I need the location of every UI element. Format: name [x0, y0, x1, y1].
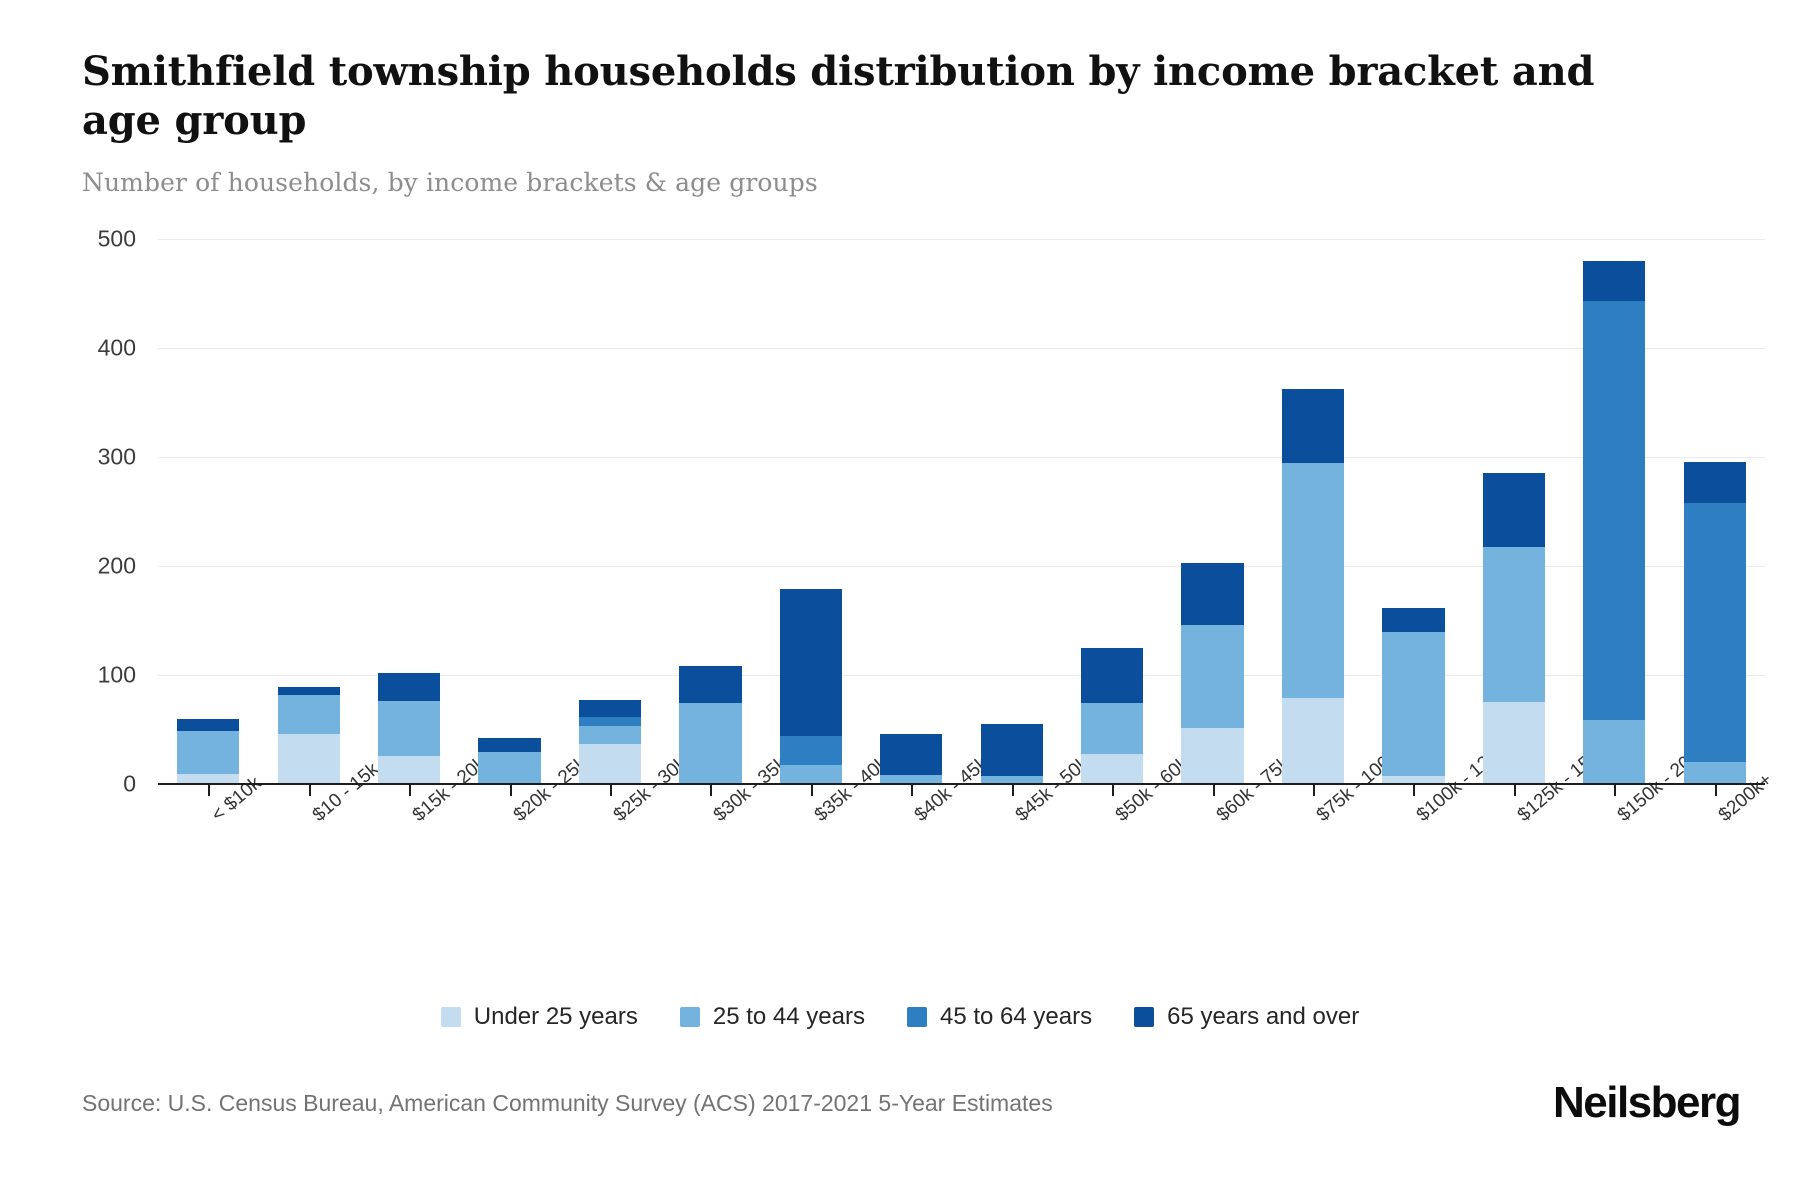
- bar-segment[interactable]: [478, 752, 540, 785]
- stacked-bar[interactable]: [981, 724, 1043, 785]
- bar-slot: $25k - 30k: [560, 240, 660, 785]
- stacked-bar[interactable]: [1081, 648, 1143, 785]
- legend-item-3[interactable]: 65 years and over: [1134, 1003, 1359, 1031]
- x-axis-tick: [1715, 785, 1717, 796]
- y-axis-tick-label: 400: [98, 335, 136, 362]
- bar-slot: < $10k: [158, 240, 258, 785]
- bar-segment[interactable]: [1081, 703, 1143, 754]
- legend-item-2[interactable]: 45 to 64 years: [907, 1003, 1092, 1031]
- neilsberg-logo: Neilsberg: [1553, 1078, 1740, 1128]
- x-axis-tick: [208, 785, 210, 796]
- bar-slot: $10 - 15k: [258, 240, 358, 785]
- bar-segment[interactable]: [1282, 463, 1344, 697]
- x-axis-tick: [1413, 785, 1415, 796]
- x-axis-tick: [510, 785, 512, 796]
- x-axis-tick: [1012, 785, 1014, 796]
- chart-subtitle: Number of households, by income brackets…: [82, 168, 1702, 197]
- bar-slot: $75k - 100k: [1263, 240, 1363, 785]
- bar-segment[interactable]: [981, 724, 1043, 776]
- bar-segment[interactable]: [1282, 389, 1344, 463]
- chart-page: Smithfield township households distribut…: [0, 0, 1800, 1200]
- bar-segment[interactable]: [1583, 261, 1645, 301]
- bar-segment[interactable]: [378, 756, 440, 785]
- stacked-bar[interactable]: [1583, 261, 1645, 785]
- bar-segment[interactable]: [579, 717, 641, 726]
- chart-footer: Source: U.S. Census Bureau, American Com…: [82, 1078, 1740, 1128]
- legend-label: 65 years and over: [1167, 1003, 1359, 1031]
- legend-label: Under 25 years: [474, 1003, 638, 1031]
- x-axis-line: [158, 783, 1765, 785]
- bar-slot: $45k - 50k: [962, 240, 1062, 785]
- chart-legend: Under 25 years25 to 44 years45 to 64 yea…: [0, 1003, 1800, 1031]
- bar-segment[interactable]: [579, 700, 641, 717]
- chart-header: Smithfield township households distribut…: [82, 48, 1702, 197]
- bar-segment[interactable]: [1483, 702, 1545, 785]
- bar-segment[interactable]: [1583, 301, 1645, 720]
- bar-slot: $200k+: [1665, 240, 1765, 785]
- legend-label: 25 to 44 years: [713, 1003, 865, 1031]
- stacked-bar[interactable]: [1181, 563, 1243, 785]
- bar-slot: $50k - 60k: [1062, 240, 1162, 785]
- stacked-bar[interactable]: [880, 734, 942, 785]
- bar-segment[interactable]: [1081, 754, 1143, 785]
- y-axis-tick-label: 300: [98, 444, 136, 471]
- stacked-bar[interactable]: [1684, 462, 1746, 785]
- bar-slot: $30k - 35k: [660, 240, 760, 785]
- x-axis-tick: [1514, 785, 1516, 796]
- bar-segment[interactable]: [780, 589, 842, 736]
- stacked-bar[interactable]: [478, 738, 540, 785]
- bar-slot: $15k - 20k: [359, 240, 459, 785]
- bar-slot: $35k - 40k: [761, 240, 861, 785]
- bar-segment[interactable]: [880, 734, 942, 775]
- x-axis-tick: [1112, 785, 1114, 796]
- x-axis-tick: [710, 785, 712, 796]
- stacked-bar[interactable]: [679, 666, 741, 785]
- stacked-bar[interactable]: [579, 700, 641, 785]
- bar-segment[interactable]: [177, 731, 239, 775]
- stacked-bar[interactable]: [1483, 473, 1545, 785]
- bar-segment[interactable]: [1684, 462, 1746, 502]
- legend-swatch-icon: [1134, 1007, 1154, 1027]
- bar-segment[interactable]: [278, 687, 340, 695]
- bar-segment[interactable]: [1181, 625, 1243, 729]
- y-axis-tick-label: 100: [98, 662, 136, 689]
- bar-slot: $125k - 150k: [1464, 240, 1564, 785]
- bar-segment[interactable]: [1583, 720, 1645, 785]
- bar-segment[interactable]: [378, 673, 440, 701]
- bar-segment[interactable]: [278, 695, 340, 734]
- bar-slot: $60k - 75k: [1162, 240, 1262, 785]
- y-axis-tick-label: 200: [98, 553, 136, 580]
- stacked-bar[interactable]: [1382, 608, 1444, 785]
- legend-swatch-icon: [907, 1007, 927, 1027]
- bar-slot: $100k - 125k: [1363, 240, 1463, 785]
- y-axis-tick-label: 0: [123, 771, 136, 798]
- stacked-bar[interactable]: [378, 673, 440, 785]
- legend-label: 45 to 64 years: [940, 1003, 1092, 1031]
- bar-segment[interactable]: [679, 666, 741, 703]
- stacked-bar[interactable]: [278, 687, 340, 785]
- x-axis-tick: [811, 785, 813, 796]
- legend-item-0[interactable]: Under 25 years: [441, 1003, 638, 1031]
- x-axis-tick: [1213, 785, 1215, 796]
- y-axis-tick-label: 500: [98, 226, 136, 253]
- plot-wrapper: 0100200300400500 < $10k$10 - 15k$15k - 2…: [0, 232, 1800, 802]
- bar-segment[interactable]: [177, 719, 239, 731]
- bar-segment[interactable]: [378, 701, 440, 755]
- bar-segment[interactable]: [1282, 698, 1344, 785]
- source-note: Source: U.S. Census Bureau, American Com…: [82, 1090, 1053, 1117]
- plot-area: 0100200300400500 < $10k$10 - 15k$15k - 2…: [158, 240, 1765, 785]
- stacked-bar[interactable]: [780, 589, 842, 785]
- bar-segment[interactable]: [1181, 563, 1243, 625]
- bar-slot: $20k - 25k: [459, 240, 559, 785]
- legend-item-1[interactable]: 25 to 44 years: [680, 1003, 865, 1031]
- legend-swatch-icon: [441, 1007, 461, 1027]
- x-axis-tick: [409, 785, 411, 796]
- x-axis-tick: [911, 785, 913, 796]
- bar-segment[interactable]: [679, 703, 741, 785]
- bar-slot: $40k - 45k: [861, 240, 961, 785]
- legend-swatch-icon: [680, 1007, 700, 1027]
- bar-segment[interactable]: [278, 734, 340, 785]
- bar-segment[interactable]: [1483, 473, 1545, 547]
- x-axis-tick: [1614, 785, 1616, 796]
- stacked-bar[interactable]: [1282, 389, 1344, 785]
- bar-segment[interactable]: [579, 726, 641, 743]
- bar-segment[interactable]: [579, 744, 641, 785]
- bar-segment[interactable]: [1081, 648, 1143, 704]
- bar-group: < $10k$10 - 15k$15k - 20k$20k - 25k$25k …: [158, 240, 1765, 785]
- page-title: Smithfield township households distribut…: [82, 48, 1652, 146]
- bar-segment[interactable]: [1684, 503, 1746, 762]
- bar-segment[interactable]: [1382, 608, 1444, 632]
- bar-segment[interactable]: [478, 738, 540, 752]
- bar-segment[interactable]: [1181, 728, 1243, 785]
- stacked-bar[interactable]: [177, 719, 239, 785]
- bar-slot: $150k - 200k: [1564, 240, 1664, 785]
- x-axis-tick: [309, 785, 311, 796]
- bar-segment[interactable]: [780, 736, 842, 765]
- x-axis-tick: [1313, 785, 1315, 796]
- x-axis-tick: [610, 785, 612, 796]
- bar-segment[interactable]: [1382, 632, 1444, 776]
- bar-segment[interactable]: [1684, 762, 1746, 785]
- bar-segment[interactable]: [1483, 547, 1545, 702]
